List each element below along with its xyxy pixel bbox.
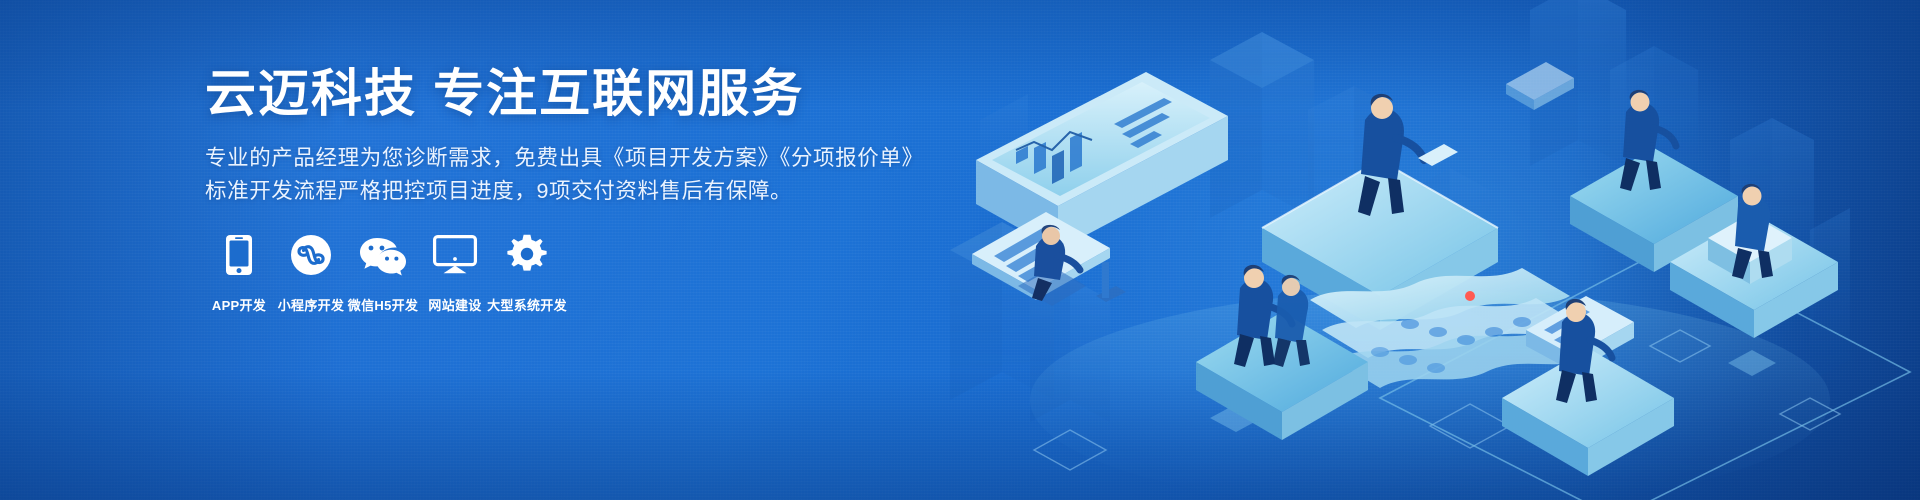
service-icon-row: APP开发 小程序开发 — [203, 232, 563, 314]
service-item-app[interactable]: APP开发 — [203, 232, 275, 314]
service-item-wechat[interactable]: 微信H5开发 — [347, 232, 419, 314]
monitor-icon — [433, 232, 477, 278]
service-label-app: APP开发 — [212, 295, 266, 314]
mobile-phone-icon — [225, 232, 253, 278]
service-item-website[interactable]: 网站建设 — [419, 232, 491, 314]
isometric-illustration — [910, 0, 1920, 500]
service-label-website: 网站建设 — [428, 295, 481, 314]
subtitle-line-2: 标准开发流程严格把控项目进度，9项交付资料售后有保障。 — [205, 175, 905, 208]
wechat-icon — [359, 232, 407, 278]
service-label-system: 大型系统开发 — [487, 295, 567, 314]
mini-program-icon — [290, 232, 332, 278]
service-label-miniprogram: 小程序开发 — [278, 295, 345, 314]
service-item-system[interactable]: 大型系统开发 — [491, 232, 563, 314]
page-title: 云迈科技 专注互联网服务 — [205, 64, 905, 124]
service-label-wechat: 微信H5开发 — [348, 295, 418, 314]
service-item-miniprogram[interactable]: 小程序开发 — [275, 232, 347, 314]
banner-subtitle: 专业的产品经理为您诊断需求，免费出具《项目开发方案》《分项报价单》 标准开发流程… — [205, 142, 905, 208]
banner-copy: 云迈科技 专注互联网服务 专业的产品经理为您诊断需求，免费出具《项目开发方案》《… — [205, 64, 905, 208]
subtitle-line-1: 专业的产品经理为您诊断需求，免费出具《项目开发方案》《分项报价单》 — [205, 142, 905, 175]
hero-banner: 云迈科技 专注互联网服务 专业的产品经理为您诊断需求，免费出具《项目开发方案》《… — [0, 0, 1920, 500]
gear-icon — [506, 232, 548, 278]
